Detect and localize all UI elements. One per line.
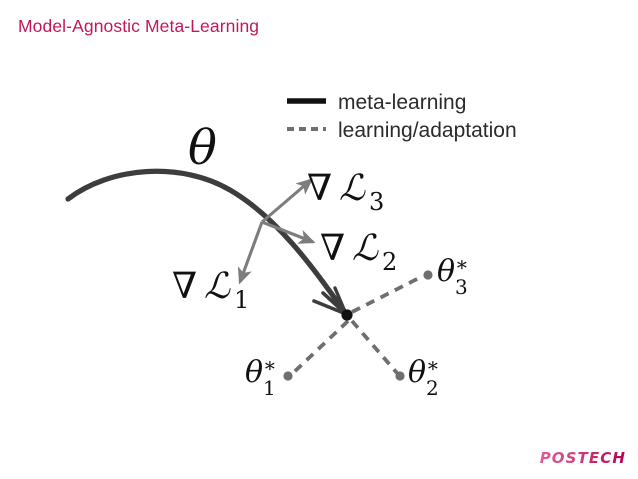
label-theta-star-1-theta: θ [245, 355, 263, 390]
label-theta-star-1: θ ∗ 1 [245, 353, 277, 400]
adaptation-line-theta2 [352, 321, 397, 373]
label-theta-star-1-star: ∗ [263, 353, 277, 377]
label-grad-l3-nabla: ∇ [307, 168, 332, 209]
label-theta-star-3-star: ∗ [455, 252, 469, 276]
legend-item-learning-adaptation: learning/adaptation [287, 119, 517, 142]
label-grad-l1-nabla: ∇ [172, 266, 197, 307]
label-grad-l2-nabla: ∇ [320, 228, 345, 269]
node-theta-junction [341, 309, 352, 320]
label-grad-l3-subscript: 3 [369, 188, 384, 216]
label-theta-star-3: θ ∗ 3 [437, 252, 469, 299]
legend-label-learning-adaptation: learning/adaptation [338, 119, 517, 142]
legend-item-meta-learning: meta-learning [287, 91, 466, 114]
label-theta-star-3-theta: θ [437, 254, 455, 289]
label-grad-l3: ∇ ℒ 3 [307, 168, 384, 216]
slide-canvas: Model-Agnostic Meta-Learning meta-learni… [0, 0, 638, 479]
label-theta-star-2-theta: θ [408, 355, 426, 390]
gradient-arrows [240, 180, 313, 282]
node-theta-star-3 [423, 270, 432, 279]
label-grad-l2-subscript: 2 [382, 248, 397, 276]
label-grad-l2-script: ℒ [352, 228, 379, 269]
adaptation-paths [293, 276, 423, 373]
label-theta-star-2-subscript: 2 [426, 376, 439, 400]
maml-figure: meta-learning learning/adaptation [0, 60, 638, 460]
label-grad-l1-subscript: 1 [234, 286, 249, 314]
legend-label-meta-learning: meta-learning [338, 91, 466, 114]
label-theta-star-2-star: ∗ [426, 353, 440, 377]
legend: meta-learning learning/adaptation [287, 91, 517, 142]
node-theta-star-1 [283, 371, 292, 380]
postech-logo: POSTECH [540, 449, 626, 467]
gradient-arrow-l1 [240, 222, 262, 282]
label-grad-l1: ∇ ℒ 1 [172, 266, 249, 314]
adaptation-line-theta3 [352, 276, 423, 312]
label-grad-l1-script: ℒ [204, 266, 231, 307]
label-grad-l2: ∇ ℒ 2 [320, 228, 397, 276]
label-theta: θ [188, 120, 217, 176]
label-grad-l3-script: ℒ [339, 168, 366, 209]
page-title: Model-Agnostic Meta-Learning [18, 16, 259, 37]
node-theta-star-2 [395, 371, 404, 380]
gradient-arrow-l3 [262, 180, 311, 222]
label-theta-star-1-subscript: 1 [263, 376, 276, 400]
label-theta-star-3-subscript: 3 [455, 275, 468, 299]
label-theta-star-2: θ ∗ 2 [408, 353, 440, 400]
maml-diagram-svg: meta-learning learning/adaptation [0, 60, 638, 460]
adaptation-line-theta1 [293, 321, 348, 373]
